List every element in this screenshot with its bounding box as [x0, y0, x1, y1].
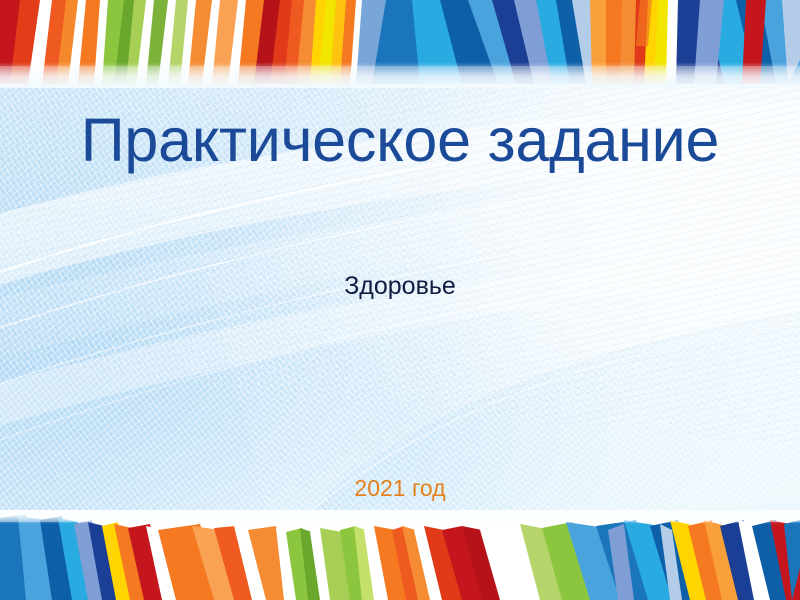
bottom-decorative-band — [0, 510, 800, 600]
top-decorative-band — [0, 0, 800, 88]
slide-title: Практическое задание — [0, 108, 800, 174]
slide-year: 2021 год — [0, 475, 800, 503]
title-slide: Практическое задание Здоровье 2021 год — [0, 0, 800, 600]
slide-subtitle: Здоровье — [0, 271, 800, 301]
